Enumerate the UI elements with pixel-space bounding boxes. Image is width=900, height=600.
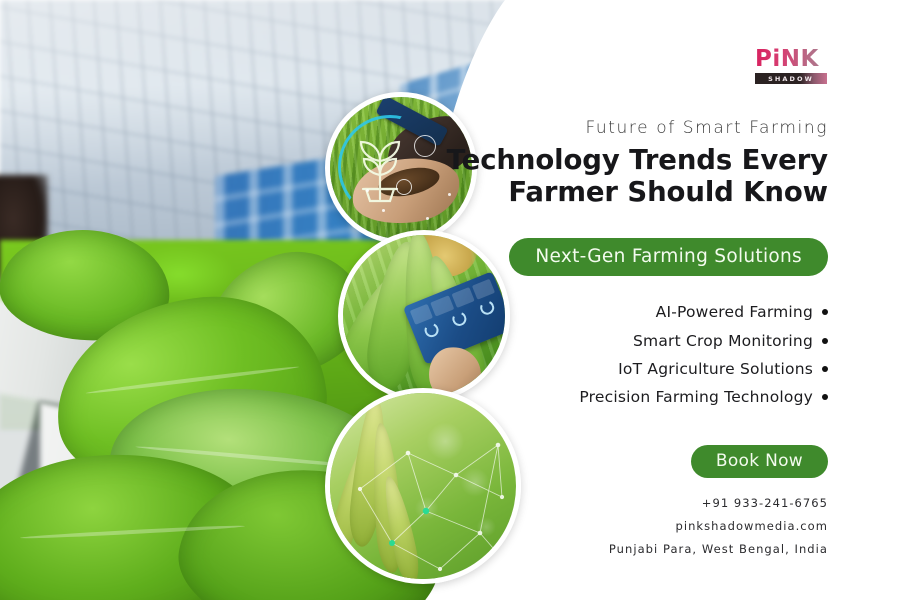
contact-phone[interactable]: +91 933-241-6765	[408, 492, 828, 515]
contact-website[interactable]: pinkshadowmedia.com	[408, 515, 828, 538]
contact-address: Punjabi Para, West Bengal, India	[408, 538, 828, 561]
feature-label: IoT Agriculture Solutions	[618, 360, 813, 378]
page-title: Technology Trends Every Farmer Should Kn…	[408, 144, 828, 208]
feature-label: Smart Crop Monitoring	[633, 332, 813, 350]
list-item: AI-Powered Farming	[408, 298, 828, 326]
sparkle-dot	[366, 189, 369, 192]
list-item: Smart Crop Monitoring	[408, 327, 828, 355]
list-item: Precision Farming Technology	[408, 383, 828, 411]
headline-line-2: Farmer Should Know	[408, 176, 828, 208]
list-item: IoT Agriculture Solutions	[408, 355, 828, 383]
bullet-dot-icon	[822, 394, 828, 400]
book-now-button[interactable]: Book Now	[691, 445, 828, 478]
eyebrow-text: Future of Smart Farming	[408, 118, 828, 138]
section-pill-badge: Next-Gen Farming Solutions	[509, 238, 828, 276]
bullet-dot-icon	[822, 366, 828, 372]
content-column: Future of Smart Farming Technology Trend…	[408, 0, 828, 561]
feature-label: AI-Powered Farming	[656, 303, 813, 321]
feature-label: Precision Farming Technology	[579, 388, 813, 406]
headline-line-1: Technology Trends Every	[408, 144, 828, 176]
cta-row: Book Now	[408, 445, 828, 478]
feature-list: AI-Powered Farming Smart Crop Monitoring…	[408, 298, 828, 411]
bullet-dot-icon	[822, 309, 828, 315]
bullet-dot-icon	[822, 338, 828, 344]
sparkle-dot	[382, 209, 385, 212]
contact-block: +91 933-241-6765 pinkshadowmedia.com Pun…	[408, 492, 828, 561]
marketing-banner: PiNK SHADOW Future of Smart Farming Tech…	[0, 0, 900, 600]
